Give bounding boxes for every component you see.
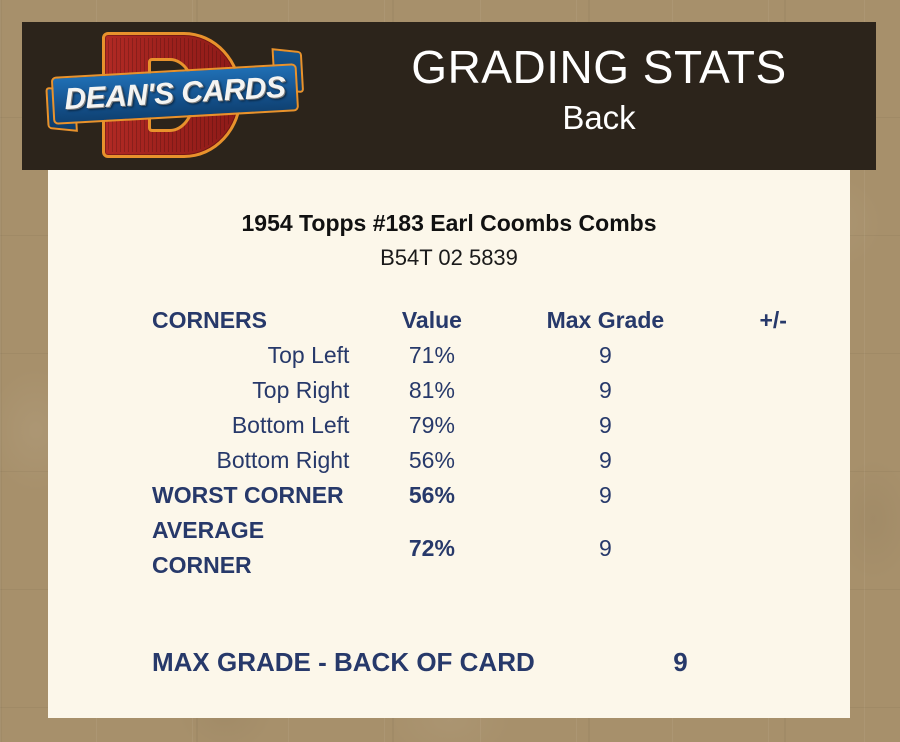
row-value: 71% (349, 338, 514, 373)
row-label: Bottom Right (48, 443, 349, 478)
row-plus-minus (696, 478, 850, 513)
page-subtitle: Back (322, 99, 876, 137)
card-title: 1954 Topps #183 Earl Coombs Combs (48, 210, 850, 237)
row-plus-minus (696, 443, 850, 478)
row-max-grade: 9 (514, 338, 696, 373)
max-grade-value: 9 (613, 647, 748, 678)
row-label: Bottom Left (48, 408, 349, 443)
header-bar: DEAN'S CARDS GRADING STATS Back (22, 22, 876, 170)
row-label: Top Right (48, 373, 349, 408)
deans-cards-logo[interactable]: DEAN'S CARDS (46, 28, 308, 164)
table-body: Top Left 71% 9 Top Right 81% 9 Bottom Le… (48, 338, 850, 583)
max-grade-label: MAX GRADE - BACK OF CARD (48, 647, 613, 678)
row-plus-minus (696, 513, 850, 583)
row-max-grade: 9 (514, 513, 696, 583)
table-row-worst-corner: WORST CORNER 56% 9 (48, 478, 850, 513)
header-titles: GRADING STATS Back (322, 40, 876, 137)
row-label: WORST CORNER (48, 478, 349, 513)
row-value: 56% (349, 478, 514, 513)
column-header-value: Value (349, 303, 514, 338)
logo-ribbon-icon: DEAN'S CARDS (45, 59, 306, 131)
table-row: Top Right 81% 9 (48, 373, 850, 408)
row-value: 79% (349, 408, 514, 443)
card-code: B54T 02 5839 (48, 245, 850, 271)
table-row: Bottom Left 79% 9 (48, 408, 850, 443)
row-label: Top Left (48, 338, 349, 373)
page-title: GRADING STATS (322, 40, 876, 95)
row-max-grade: 9 (514, 373, 696, 408)
row-value: 72% (349, 513, 514, 583)
stats-panel: 1954 Topps #183 Earl Coombs Combs B54T 0… (48, 170, 850, 718)
column-header-corners: CORNERS (48, 303, 349, 338)
row-plus-minus (696, 338, 850, 373)
column-header-max-grade: Max Grade (514, 303, 696, 338)
table-row: Top Left 71% 9 (48, 338, 850, 373)
row-value: 81% (349, 373, 514, 408)
row-max-grade: 9 (514, 408, 696, 443)
table-row: Bottom Right 56% 9 (48, 443, 850, 478)
row-max-grade: 9 (514, 478, 696, 513)
row-max-grade: 9 (514, 443, 696, 478)
logo-wordmark: DEAN'S CARDS (51, 63, 299, 125)
row-value: 56% (349, 443, 514, 478)
table-header-row: CORNERS Value Max Grade +/- (48, 303, 850, 338)
row-plus-minus (696, 373, 850, 408)
max-grade-summary: MAX GRADE - BACK OF CARD 9 (48, 647, 850, 678)
table-row-average-corner: AVERAGE CORNER 72% 9 (48, 513, 850, 583)
column-header-plus-minus: +/- (696, 303, 850, 338)
row-plus-minus (696, 408, 850, 443)
row-label: AVERAGE CORNER (48, 513, 349, 583)
grading-stats-table: CORNERS Value Max Grade +/- Top Left 71%… (48, 303, 850, 583)
